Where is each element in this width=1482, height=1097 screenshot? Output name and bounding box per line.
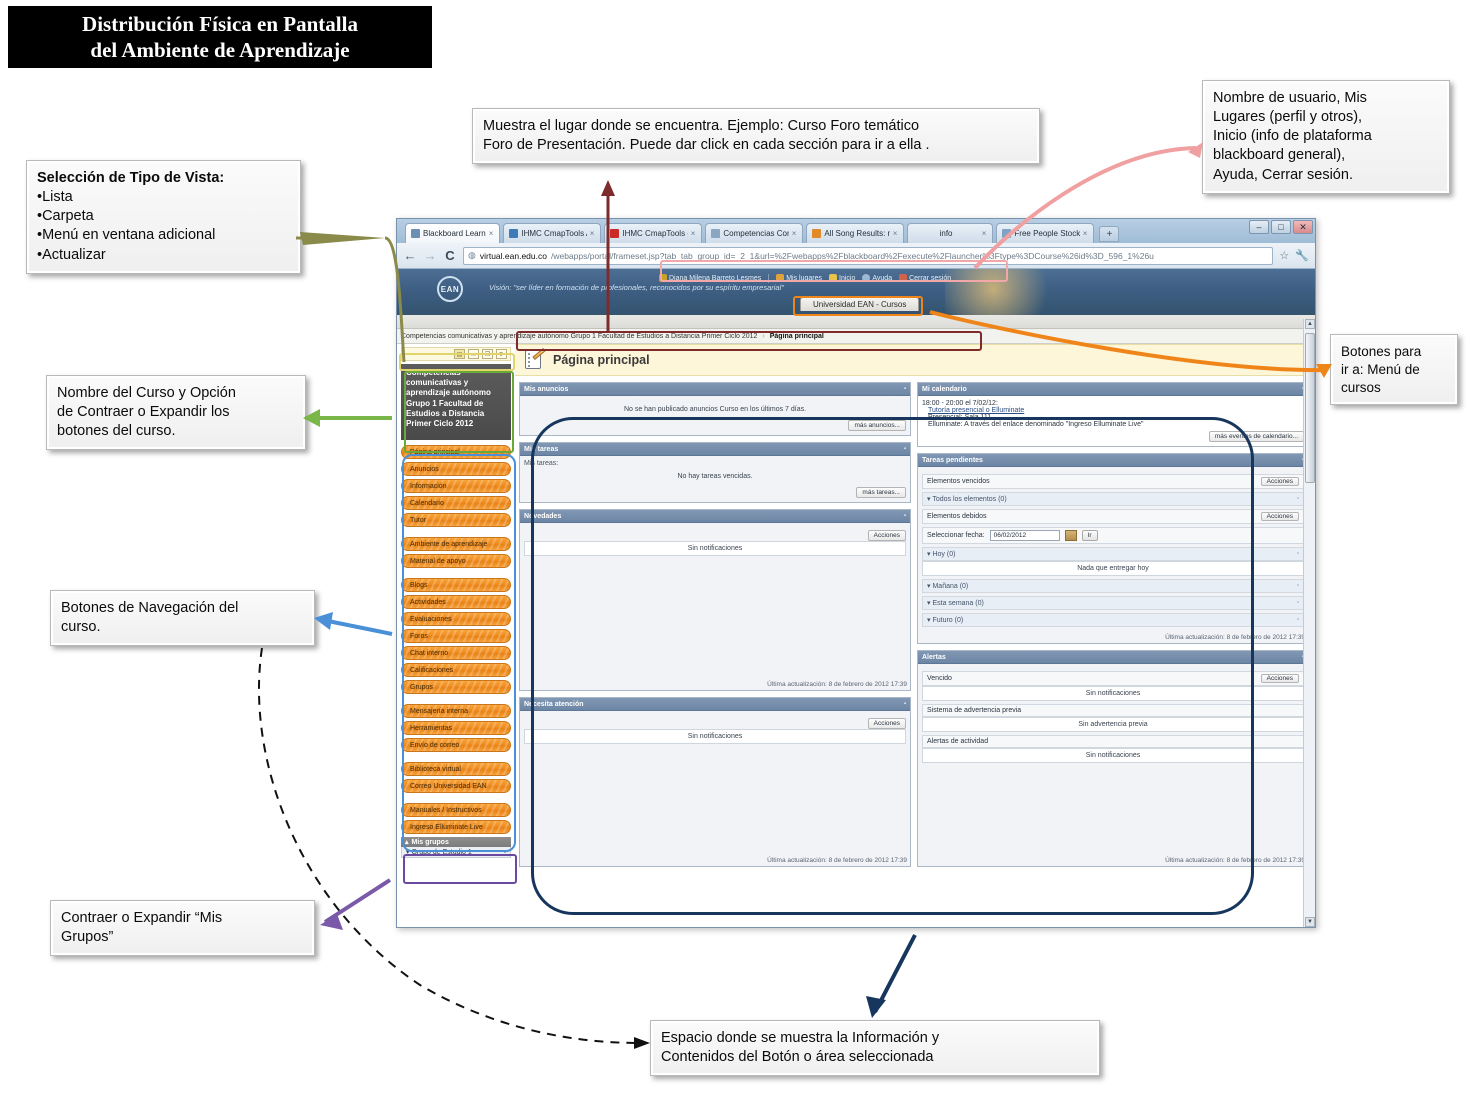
row-sistema-advertencia-previa: Sistema de advertencia previa xyxy=(922,704,1304,717)
row-esta-semana[interactable]: ▾ Esta semana (0) ▫ xyxy=(922,596,1304,610)
scroll-up-icon[interactable]: ▲ xyxy=(1305,319,1315,329)
tab-favicon-icon xyxy=(812,229,821,238)
menu-button-pagina-principal[interactable]: Página principal xyxy=(401,445,511,459)
browser-window: Blackboard Learn × IHMC CmapTools Ayud ×… xyxy=(396,218,1316,928)
module-necesita-atencion: Necesita atención ▪ Acciones Sin notific… xyxy=(519,697,911,867)
row-label: Esta semana (0) xyxy=(932,600,983,607)
module-header: Novedades ▪ xyxy=(520,510,910,523)
module-title: Mis anuncios xyxy=(524,386,568,393)
close-icon[interactable]: × xyxy=(893,229,898,238)
page-scrollbar[interactable]: ▲ ▼ xyxy=(1303,319,1315,927)
menu-button-ambiente-de-aprendizaje[interactable]: Ambiente de aprendizaje xyxy=(401,537,511,551)
home-icon xyxy=(829,274,837,282)
module-body: Mis tareas: No hay tareas vencidas. más … xyxy=(520,456,910,502)
vencido-note: Sin notificaciones xyxy=(922,686,1304,701)
breadcrumb-course[interactable]: Competencias comunicativas y aprendizaje… xyxy=(401,333,757,340)
module-novedades: Novedades ▪ Acciones Sin notificaciones … xyxy=(519,509,911,691)
menu-button-actividades[interactable]: Actividades xyxy=(401,595,511,609)
callout-course-menu-buttons: Botones para ir a: Menú de cursos xyxy=(1330,334,1458,405)
module-header: Alertas ▪ xyxy=(918,651,1308,664)
mas-eventos-calendario-button[interactable]: más eventos de calendario... xyxy=(1209,431,1304,442)
tab-favicon-icon xyxy=(610,229,619,238)
menu-button-anuncios[interactable]: Anuncios xyxy=(401,462,511,476)
module-body: Elementos vencidos Acciones ▾ Todos los … xyxy=(918,467,1308,631)
menu-button-envio-de-correo[interactable]: Envío de correo xyxy=(401,738,511,752)
row-label: Alertas de actividad xyxy=(927,738,988,745)
callout-nav-buttons: Botones de Navegación del curso. xyxy=(50,590,315,646)
row-label: Futuro (0) xyxy=(932,617,963,624)
banner-globe-art xyxy=(945,269,1065,315)
row-seleccionar-fecha: Seleccionar fecha: 06/02/2012 Ir xyxy=(922,527,1304,544)
row-options-icon[interactable]: ▫ xyxy=(1297,617,1299,623)
expand-caret-icon[interactable]: ▾ xyxy=(927,617,931,624)
callout-content-line2: Contenidos del Botón o área seleccionada xyxy=(661,1048,1089,1067)
url-host: virtual.ean.edu.co xyxy=(480,251,547,261)
row-label: Sistema de advertencia previa xyxy=(927,707,1021,714)
mas-tareas-button[interactable]: más tareas... xyxy=(856,487,906,498)
module-mis-anuncios: Mis anuncios ▪ No se han publicado anunc… xyxy=(519,382,911,436)
browser-tab-5[interactable]: info × xyxy=(907,223,993,243)
line-content-area xyxy=(875,935,915,1012)
module-mi-calendario: Mi calendario ▪ 18:00 - 20:00 el 7/02/12… xyxy=(917,382,1309,447)
expand-caret-icon[interactable]: ▾ xyxy=(927,551,931,558)
mas-anuncios-button[interactable]: más anuncios... xyxy=(848,420,906,431)
module-note: Sin notificaciones xyxy=(524,729,906,744)
actividad-note: Sin notificaciones xyxy=(922,748,1304,763)
module-header: Mi calendario ▪ xyxy=(918,383,1308,396)
nav-divider xyxy=(768,274,769,283)
browser-tab-label: Free People Stock Phot xyxy=(1014,229,1079,238)
refresh-icon[interactable]: ⟳ xyxy=(496,349,507,359)
module-tareas-pendientes: Tareas pendientes ▪ Elementos vencidos A… xyxy=(917,453,1309,644)
module-header: Necesita atención ▪ xyxy=(520,698,910,711)
help-menu[interactable]: Ayuda xyxy=(862,274,892,282)
menu-button-biblioteca-virtual[interactable]: Biblioteca virtual xyxy=(401,762,511,776)
my-places-label: Mis lugares xyxy=(786,275,822,282)
poster-title-line2: del Ambiente de Aprendizaje xyxy=(90,37,349,63)
last-update-label: Última actualización: 8 de febrero de 20… xyxy=(918,854,1308,866)
wrench-settings-icon[interactable]: 🔧 xyxy=(1295,249,1309,262)
blackboard-page: EAN Visión: "ser líder en formación de p… xyxy=(397,269,1315,927)
callout-view-type-item-2: •Menú en ventana adicional xyxy=(37,226,290,245)
callout-view-type-item-0: •Lista xyxy=(37,188,290,207)
minimize-button[interactable]: – xyxy=(1249,220,1269,234)
expand-caret-icon[interactable]: ▾ xyxy=(927,496,931,503)
row-elementos-debidos: Elementos debidos Acciones xyxy=(922,509,1304,524)
row-label: Vencido xyxy=(927,675,952,682)
arrow-user-nav xyxy=(1188,142,1203,158)
page-title: Página principal xyxy=(553,353,650,367)
acciones-button[interactable]: Acciones xyxy=(868,718,906,729)
acciones-button[interactable]: Acciones xyxy=(1261,477,1299,486)
menu-button-herramientas[interactable]: Herramientas xyxy=(401,721,511,735)
menu-button-chat-interno[interactable]: Chat interno xyxy=(401,646,511,660)
last-update-label: Última actualización: 8 de febrero de 20… xyxy=(918,631,1308,643)
course-title: Competencias comunicativas y aprendizaje… xyxy=(401,364,511,440)
breadcrumb-current: Página principal xyxy=(770,333,824,340)
row-options-icon[interactable]: ▫ xyxy=(1297,551,1299,557)
module-title: Necesita atención xyxy=(524,701,584,708)
callout-content-area: Espacio donde se muestra la Información … xyxy=(650,1020,1100,1076)
browser-tab-label: Blackboard Learn xyxy=(423,229,486,238)
module-title: Alertas xyxy=(922,654,946,661)
home-menu[interactable]: Inicio xyxy=(829,274,855,282)
callout-content-line1: Espacio donde se muestra la Información … xyxy=(661,1029,1089,1048)
browser-tab-label: IHMC CmapTools - Trai xyxy=(622,229,687,238)
module-subtitle: Mis tareas: xyxy=(524,460,906,467)
notepad-pencil-icon xyxy=(525,350,545,370)
page-gray-strip xyxy=(397,315,1315,329)
folder-view-icon[interactable]: ▭ xyxy=(468,349,479,359)
module-column-right: Mi calendario ▪ 18:00 - 20:00 el 7/02/12… xyxy=(917,382,1309,867)
callout-course-line3: botones del curso. xyxy=(57,422,295,441)
group-item-estudio-1[interactable]: ▾ Grupo de Estudio 1 ▫ xyxy=(401,847,511,858)
address-input[interactable]: ◍ virtual.ean.edu.co/webapps/portal/fram… xyxy=(463,247,1273,265)
callout-menu-line2: ir a: Menú de xyxy=(1341,361,1447,379)
row-vencido: Vencido Acciones xyxy=(922,671,1304,686)
browser-tab-label: All Song Results: music xyxy=(824,229,889,238)
menu-group-divider xyxy=(401,697,511,704)
menu-button-grupos[interactable]: Grupos xyxy=(401,680,511,694)
row-elementos-vencidos: Elementos vencidos Acciones xyxy=(922,474,1304,489)
help-icon xyxy=(862,274,870,282)
row-label: Hoy (0) xyxy=(932,551,955,558)
row-futuro[interactable]: ▾ Futuro (0) ▫ xyxy=(922,613,1304,627)
list-view-icon[interactable]: ▤ xyxy=(454,349,465,359)
module-note: No hay tareas vencidas. xyxy=(524,467,906,484)
window-view-icon[interactable]: ❐ xyxy=(482,349,493,359)
calendar-line2: Presencial: Sala 111 xyxy=(922,414,1304,421)
ean-banner: EAN Visión: "ser líder en formación de p… xyxy=(397,269,1315,315)
scroll-down-icon[interactable]: ▼ xyxy=(1305,917,1315,927)
callout-user-line2: Lugares (perfil y otros), xyxy=(1213,108,1439,127)
callout-user-line1: Nombre de usuario, Mis xyxy=(1213,89,1439,108)
calendar-time: 18:00 - 20:00 el 7/02/12: xyxy=(922,400,1304,407)
tab-favicon-icon xyxy=(1002,229,1011,238)
callout-view-type-item-3: •Actualizar xyxy=(37,246,290,265)
row-label: Elementos debidos xyxy=(927,513,987,520)
menu-button-manuales-instructivos[interactable]: Manuales / Instructivos xyxy=(401,803,511,817)
close-button[interactable]: ✕ xyxy=(1293,220,1313,234)
menu-button-mensajeria-interna[interactable]: Mensajería interna xyxy=(401,704,511,718)
module-body: No se han publicado anuncios Curso en lo… xyxy=(520,396,910,435)
module-options-icon[interactable]: ▪ xyxy=(904,446,906,452)
browser-tab-label: IHMC CmapTools Ayud xyxy=(521,229,586,238)
logout-menu[interactable]: Cerrar sesión xyxy=(899,274,951,282)
callout-groups-line1: Contraer o Expandir “Mis xyxy=(61,909,304,928)
menu-button-ingreso-elluminate-live[interactable]: Ingreso Elluminate Live xyxy=(401,820,511,834)
browser-tab-label: Competencias Comunic xyxy=(723,229,788,238)
page-content-row: ▤ ▭ ❐ ⟳ Competencias comunicativas y apr… xyxy=(397,344,1315,926)
row-label: Mañana (0) xyxy=(932,583,968,590)
user-nav-bar: Diana Milena Barreto Lesmes Mis lugares … xyxy=(659,271,951,285)
help-label: Ayuda xyxy=(872,275,892,282)
user-name-menu[interactable]: Diana Milena Barreto Lesmes xyxy=(659,274,761,282)
callout-breadcrumb-line1: Muestra el lugar donde se encuentra. Eje… xyxy=(483,117,1029,136)
browser-tab-4[interactable]: All Song Results: music × xyxy=(806,223,904,243)
last-update-label: Última actualización: 8 de febrero de 20… xyxy=(520,854,910,866)
callout-course-name: Nombre del Curso y Opción de Contraer o … xyxy=(46,375,306,450)
calendar-picker-icon[interactable] xyxy=(1065,530,1077,541)
menu-button-calificaciones[interactable]: Calificaciones xyxy=(401,663,511,677)
browser-url-bar: ← → C ◍ virtual.ean.edu.co/webapps/porta… xyxy=(397,243,1315,269)
my-groups-panel: ▴ Mis grupos ▾ Grupo de Estudio 1 ▫ xyxy=(401,837,511,858)
module-note: No se han publicado anuncios Curso en lo… xyxy=(524,400,906,417)
browser-tab-2[interactable]: IHMC CmapTools - Trai × xyxy=(604,223,702,243)
expand-caret-icon[interactable]: ▾ xyxy=(927,583,931,590)
tab-favicon-icon xyxy=(411,229,420,238)
acciones-button[interactable]: Acciones xyxy=(1261,674,1299,683)
callout-menu-line1: Botones para xyxy=(1341,343,1447,361)
user-name-label: Diana Milena Barreto Lesmes xyxy=(669,275,761,282)
expand-caret-icon[interactable]: ▾ xyxy=(406,849,410,856)
module-title: Tareas pendientes xyxy=(922,457,983,464)
callout-nav-line2: curso. xyxy=(61,618,304,637)
arrow-breadcrumb xyxy=(601,180,615,196)
row-alertas-actividad: Alertas de actividad xyxy=(922,735,1304,748)
menu-button-evaluaciones[interactable]: Evaluaciones xyxy=(401,612,511,626)
calendar-event-link[interactable]: Tutoría presencial o Elluminate xyxy=(928,407,1024,414)
module-mis-tareas: Mis tareas ▪ Mis tareas: No hay tareas v… xyxy=(519,442,911,503)
callout-groups-line2: Grupos” xyxy=(61,928,304,947)
callout-user-nav: Nombre de usuario, Mis Lugares (perfil y… xyxy=(1202,80,1450,194)
module-body: Acciones Sin notificaciones xyxy=(520,711,910,854)
callout-breadcrumb: Muestra el lugar donde se encuentra. Eje… xyxy=(472,108,1040,164)
close-icon[interactable]: × xyxy=(489,229,494,238)
last-update-label: Última actualización: 8 de febrero de 20… xyxy=(520,678,910,690)
close-icon[interactable]: × xyxy=(1083,229,1088,238)
menu-button-foros[interactable]: Foros xyxy=(401,629,511,643)
line-my-groups xyxy=(325,880,390,922)
window-controls: – □ ✕ xyxy=(1249,220,1313,234)
bookmark-star-icon[interactable]: ☆ xyxy=(1279,249,1289,262)
date-label: Seleccionar fecha: xyxy=(927,532,985,539)
tab-favicon-icon xyxy=(509,229,518,238)
breadcrumb-separator: › xyxy=(762,333,764,340)
row-label: Elementos vencidos xyxy=(927,478,990,485)
callout-view-type-item-1: •Carpeta xyxy=(37,207,290,226)
advertencia-note: Sin advertencia previa xyxy=(922,717,1304,732)
callout-user-line5: Ayuda, Cerrar sesión. xyxy=(1213,166,1439,185)
row-label: Todos los elementos (0) xyxy=(932,496,1006,503)
my-places-menu[interactable]: Mis lugares xyxy=(776,274,822,282)
callout-course-line1: Nombre del Curso y Opción xyxy=(57,384,295,403)
new-tab-button[interactable]: + xyxy=(1099,226,1119,242)
browser-tab-0[interactable]: Blackboard Learn × xyxy=(405,223,500,243)
places-icon xyxy=(776,274,784,282)
tab-favicon-icon xyxy=(711,229,720,238)
callout-view-type-heading: Selección de Tipo de Vista: xyxy=(37,170,224,186)
menu-button-material-de-apoyo[interactable]: Material de apoyo xyxy=(401,554,511,568)
page-header: Página principal xyxy=(515,344,1315,376)
row-manana[interactable]: ▾ Mañana (0) ▫ xyxy=(922,579,1304,593)
browser-tab-3[interactable]: Competencias Comunic × xyxy=(705,223,803,243)
my-groups-label: Mis grupos xyxy=(412,839,449,846)
module-alertas: Alertas ▪ Vencido Acciones Sin notificac… xyxy=(917,650,1309,867)
menu-group-divider xyxy=(401,530,511,537)
close-icon[interactable]: × xyxy=(590,229,595,238)
row-todos-los-elementos[interactable]: ▾ Todos los elementos (0) ▫ xyxy=(922,492,1304,506)
arrow-content-area xyxy=(866,996,886,1018)
my-groups-header[interactable]: ▴ Mis grupos xyxy=(401,837,511,847)
menu-button-blogs[interactable]: Blogs xyxy=(401,578,511,592)
menu-group-divider xyxy=(401,796,511,803)
reload-icon[interactable]: C xyxy=(443,248,457,263)
callout-nav-line1: Botones de Navegación del xyxy=(61,599,304,618)
group-options-icon[interactable]: ▫ xyxy=(504,849,506,856)
module-header: Tareas pendientes ▪ xyxy=(918,454,1308,467)
close-icon[interactable]: × xyxy=(792,229,797,238)
arrow-my-groups xyxy=(320,914,343,930)
url-path: /webapps/portal/frameset.jsp?tab_tab_gro… xyxy=(551,251,1154,261)
poster-title: Distribución Física en Pantalla del Ambi… xyxy=(8,6,432,68)
back-icon[interactable]: ← xyxy=(403,248,417,263)
menu-button-correo-universidad-ean[interactable]: Correo Universidad EAN xyxy=(401,779,511,793)
browser-tab-6[interactable]: Free People Stock Phot × xyxy=(996,223,1094,243)
callout-my-groups: Contraer o Expandir “Mis Grupos” xyxy=(50,900,315,956)
callout-menu-line3: cursos xyxy=(1341,379,1447,397)
arrow-dashed-connector xyxy=(634,1037,650,1049)
menu-button-tutor[interactable]: Tutor xyxy=(401,513,511,527)
breadcrumb: Competencias comunicativas y aprendizaje… xyxy=(397,329,1315,344)
module-body: Acciones Sin notificaciones xyxy=(520,523,910,678)
callout-user-line3: Inicio (info de plataforma xyxy=(1213,127,1439,146)
module-column-left: Mis anuncios ▪ No se han publicado anunc… xyxy=(519,382,911,867)
go-button[interactable]: Ir xyxy=(1082,530,1098,541)
expand-caret-icon[interactable]: ▾ xyxy=(927,600,931,607)
module-options-icon[interactable]: ▪ xyxy=(904,513,906,519)
row-hoy[interactable]: ▾ Hoy (0) ▫ xyxy=(922,547,1304,561)
group-item-label: Grupo de Estudio 1 xyxy=(411,849,471,856)
module-header: Mis anuncios ▪ xyxy=(520,383,910,396)
module-note: Sin notificaciones xyxy=(524,541,906,556)
forward-icon[interactable]: → xyxy=(423,248,437,263)
collapse-caret-icon[interactable]: ▴ xyxy=(405,838,409,846)
module-header: Mis tareas ▪ xyxy=(520,443,910,456)
callout-breadcrumb-line2: Foro de Presentación. Puede dar click en… xyxy=(483,136,1029,155)
user-icon xyxy=(659,274,667,282)
arrow-nav-buttons xyxy=(314,612,333,630)
row-options-icon[interactable]: ▫ xyxy=(1297,496,1299,502)
callout-course-line2: de Contraer o Expandir los xyxy=(57,403,295,422)
menu-button-informacion[interactable]: Información xyxy=(401,479,511,493)
menu-group-divider xyxy=(401,571,511,578)
row-options-icon[interactable]: ▫ xyxy=(1297,583,1299,589)
module-title: Novedades xyxy=(524,513,561,520)
poster-title-line1: Distribución Física en Pantalla xyxy=(82,11,358,37)
course-menu: ▤ ▭ ❐ ⟳ Competencias comunicativas y apr… xyxy=(397,344,515,926)
globe-icon: ◍ xyxy=(468,250,476,261)
acciones-button[interactable]: Acciones xyxy=(1261,512,1299,521)
line-nav-buttons xyxy=(318,619,392,634)
maximize-button[interactable]: □ xyxy=(1271,220,1291,234)
calendar-line3: Elluminate: A través del enlace denomina… xyxy=(922,421,1304,428)
scrollbar-thumb[interactable] xyxy=(1305,333,1315,483)
module-grid: Mis anuncios ▪ No se han publicado anunc… xyxy=(519,376,1309,867)
callout-user-line4: blackboard general), xyxy=(1213,146,1439,165)
module-title: Mis tareas xyxy=(524,446,558,453)
module-body: Vencido Acciones Sin notificaciones Sist… xyxy=(918,664,1308,854)
today-note: Nada que entregar hoy xyxy=(922,561,1304,576)
browser-tab-strip: Blackboard Learn × IHMC CmapTools Ayud ×… xyxy=(397,219,1315,243)
browser-tab-1[interactable]: IHMC CmapTools Ayud × xyxy=(503,223,601,243)
callout-view-type: Selección de Tipo de Vista: •Lista •Carp… xyxy=(26,160,301,274)
module-title: Mi calendario xyxy=(922,386,967,393)
module-options-icon[interactable]: ▪ xyxy=(904,701,906,707)
close-icon[interactable]: × xyxy=(691,229,696,238)
course-menu-buttons: Página principal Anuncios Información Ca… xyxy=(401,445,511,834)
home-label: Inicio xyxy=(839,275,855,282)
arrow-view-type xyxy=(300,232,385,245)
module-body: 18:00 - 20:00 el 7/02/12: Tutoría presen… xyxy=(918,396,1308,446)
menu-button-calendario[interactable]: Calendario xyxy=(401,496,511,510)
tab-universidad-ean-cursos[interactable]: Universidad EAN - Cursos xyxy=(800,297,919,311)
row-options-icon[interactable]: ▫ xyxy=(1297,600,1299,606)
acciones-button[interactable]: Acciones xyxy=(868,530,906,541)
browser-tab-label: info xyxy=(913,229,978,238)
ean-logo: EAN xyxy=(437,276,463,302)
logout-icon xyxy=(899,274,907,282)
logout-label: Cerrar sesión xyxy=(909,275,951,282)
date-input[interactable]: 06/02/2012 xyxy=(990,530,1060,541)
module-options-icon[interactable]: ▪ xyxy=(904,386,906,392)
main-content-area: Página principal Mis anuncios ▪ No se ha… xyxy=(515,344,1315,926)
close-icon[interactable]: × xyxy=(982,229,987,238)
course-menu-view-toolbar: ▤ ▭ ❐ ⟳ xyxy=(401,347,511,361)
menu-group-divider xyxy=(401,755,511,762)
